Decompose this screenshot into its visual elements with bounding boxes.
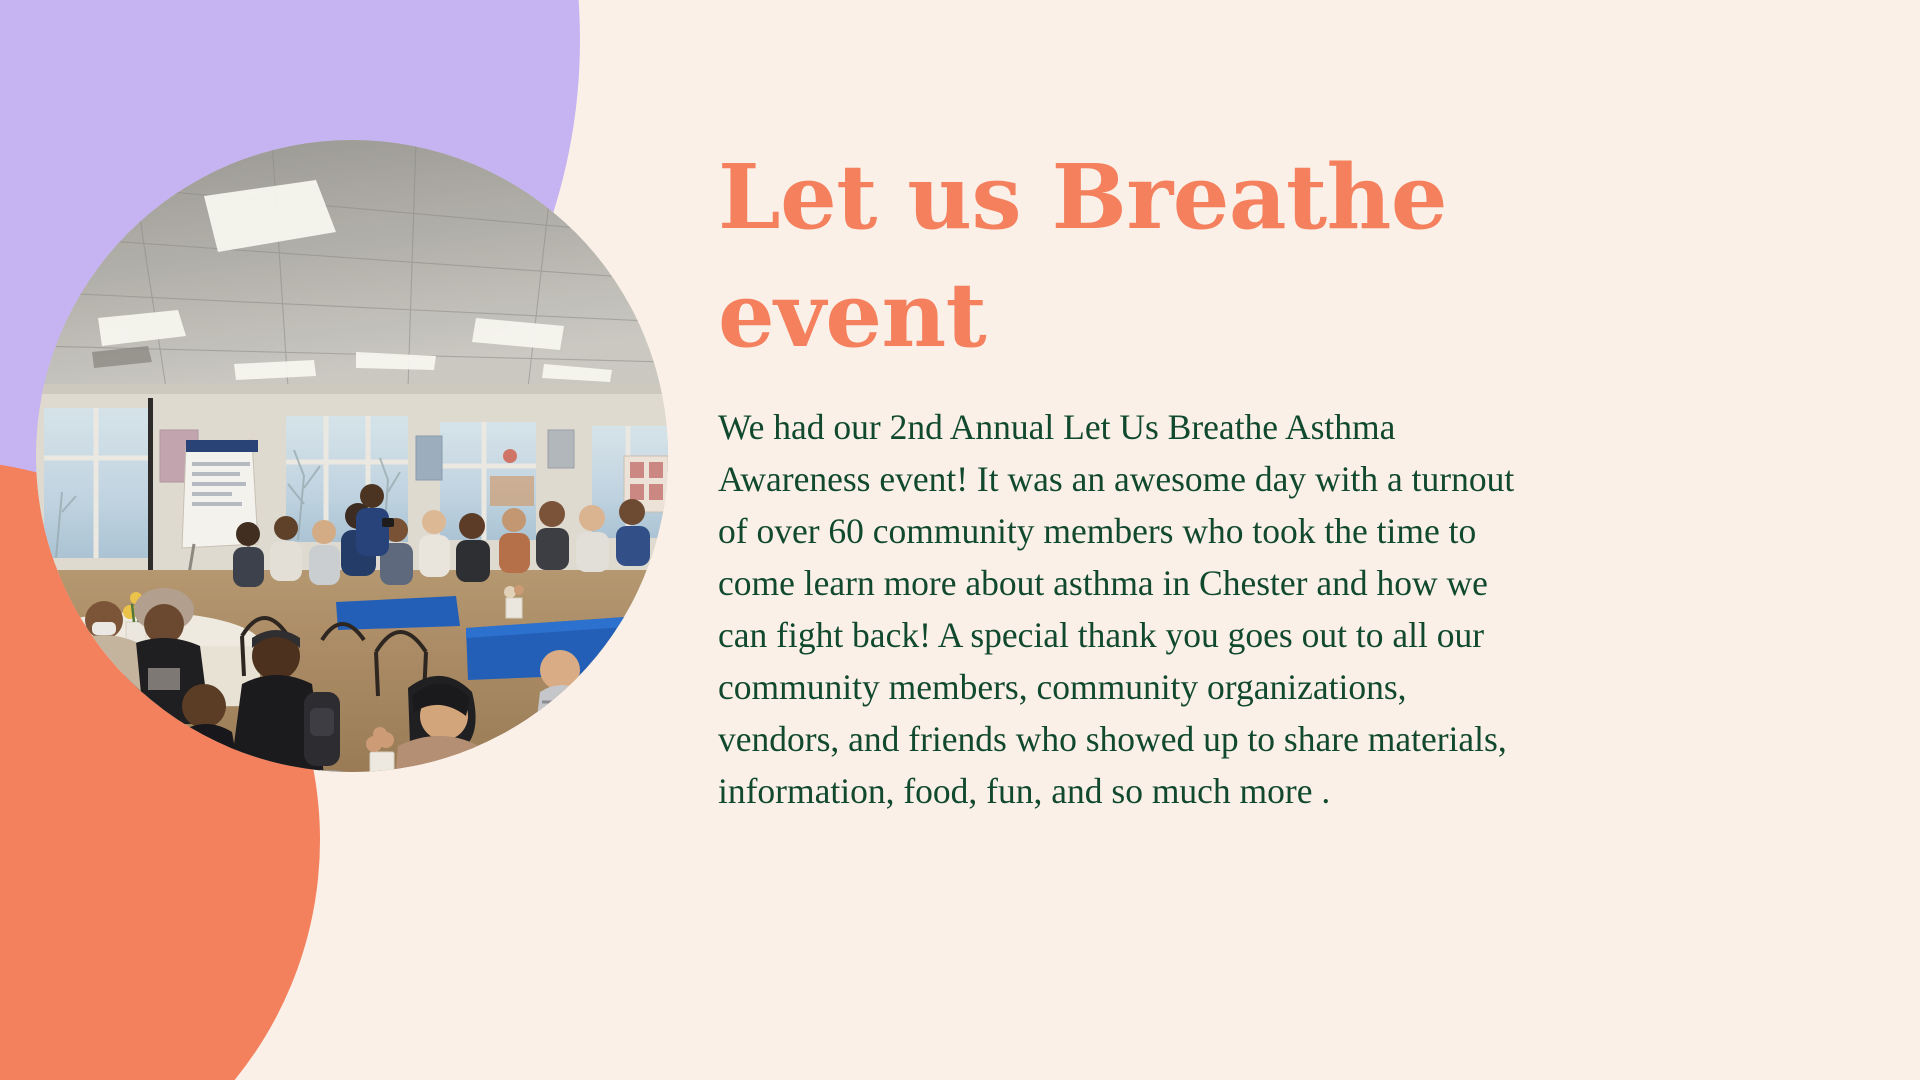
event-description-paragraph: We had our 2nd Annual Let Us Breathe Ast… (718, 401, 1533, 817)
page-title: Let us Breathe event (718, 138, 1508, 375)
event-photo (36, 140, 668, 772)
event-photo-illustration (36, 140, 668, 772)
text-content-column: Let us Breathe event We had our 2nd Annu… (718, 138, 1858, 817)
